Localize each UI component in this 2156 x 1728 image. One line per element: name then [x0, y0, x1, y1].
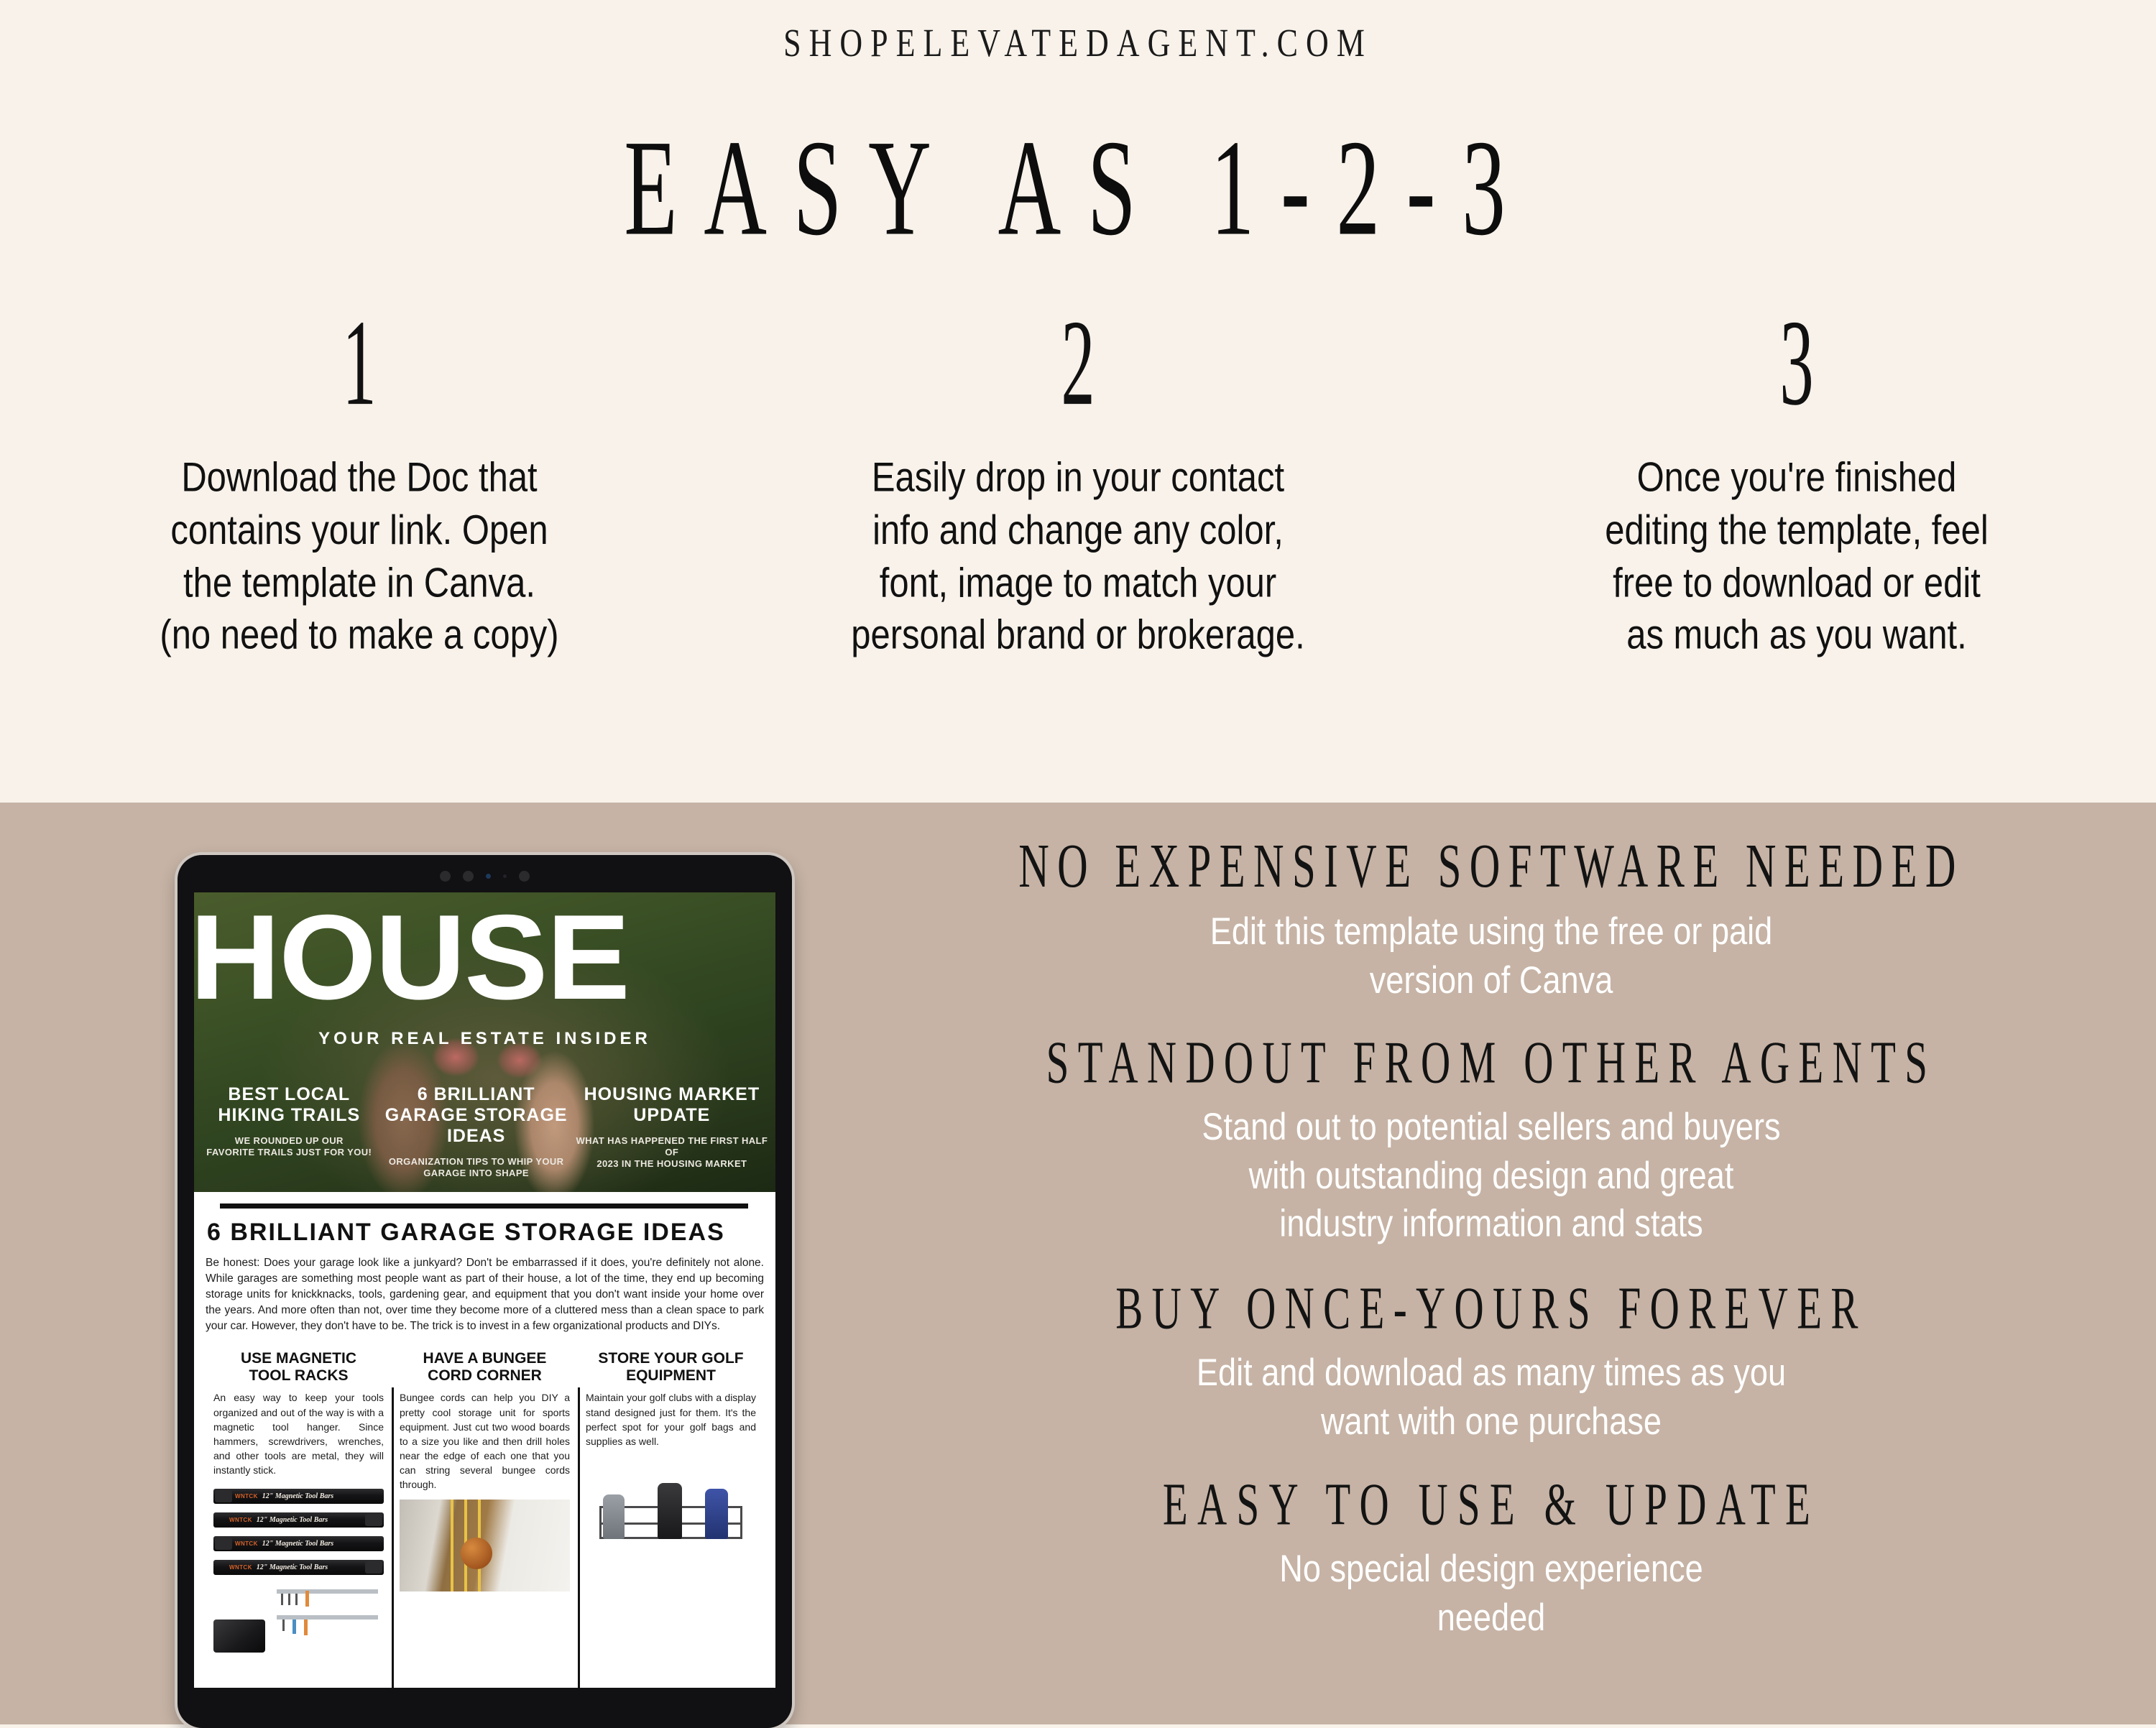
magazine-cover: HOUSE YOUR REAL ESTATE INSIDER BEST LOCA…: [194, 892, 775, 1192]
benefits-list: NO EXPENSIVE SOFTWARE NEEDED Edit this t…: [841, 831, 2156, 1634]
cover-blurb-2-title: 6 BRILLIANT GARAGE STORAGE IDEAS: [377, 1084, 576, 1147]
step-1: 1 Download the Doc that contains your li…: [0, 302, 719, 637]
product-list-magnetic-bars: WNTCK 12" Magnetic Tool Bars WNTCK 12" M…: [213, 1489, 384, 1653]
bottom-features-section: HOUSE YOUR REAL ESTATE INSIDER BEST LOCA…: [0, 803, 2156, 1724]
benefit-item-easy: EASY TO USE & UPDATE No special design e…: [841, 1470, 2142, 1630]
article-column-2: HAVE A BUNGEE CORD CORNER Bungee cords c…: [392, 1350, 578, 1653]
product-name-label: 12" Magnetic Tool Bars: [257, 1516, 328, 1524]
cover-blurb-3: HOUSING MARKET UPDATE WHAT HAS HAPPENED …: [576, 1084, 768, 1180]
tablet-mockup: HOUSE YOUR REAL ESTATE INSIDER BEST LOCA…: [178, 855, 792, 1728]
top-intro-section: SHOPELEVATEDAGENT.COM EASY AS 1-2-3 1 Do…: [0, 0, 2156, 803]
benefit-item-standout: STANDOUT FROM OTHER AGENTS Stand out to …: [841, 1028, 2142, 1231]
magazine-article: 6 BRILLIANT GARAGE STORAGE IDEAS Be hone…: [194, 1192, 775, 1653]
tool-hook-rail-photo: [271, 1586, 384, 1653]
article-columns: USE MAGNETIC TOOL RACKS An easy way to k…: [206, 1350, 764, 1653]
cover-blurb-1: BEST LOCAL HIKING TRAILS WE ROUNDED UP O…: [201, 1084, 377, 1180]
step-3-text: Once you're finished editing the templat…: [1452, 451, 2142, 662]
steps-row: 1 Download the Doc that contains your li…: [0, 302, 2156, 637]
hook-icon: [295, 1594, 298, 1605]
hook-icon: [281, 1594, 283, 1605]
magazine-subtitle: YOUR REAL ESTATE INSIDER: [194, 1029, 775, 1049]
benefit-3-heading: BUY ONCE-YOURS FOREVER: [873, 1274, 2109, 1344]
golf-clubs-icon: [603, 1494, 625, 1539]
article-column-2-heading: HAVE A BUNGEE CORD CORNER: [400, 1350, 570, 1384]
product-brand-label: WNTCK: [229, 1564, 252, 1571]
screwdriver-icon: [305, 1591, 309, 1607]
magazine-cover-blurbs: BEST LOCAL HIKING TRAILS WE ROUNDED UP O…: [194, 1084, 775, 1180]
benefit-3-body: Edit and download as many times as you w…: [867, 1348, 2116, 1445]
step-1-text: Download the Doc that contains your link…: [14, 451, 704, 662]
hook-icon: [282, 1620, 285, 1631]
golf-bag-blue-icon: [705, 1489, 728, 1539]
tablet-screen: HOUSE YOUR REAL ESTATE INSIDER BEST LOCA…: [194, 892, 775, 1688]
benefit-item-software: NO EXPENSIVE SOFTWARE NEEDED Edit this t…: [841, 831, 2142, 992]
product-name-label: 12" Magnetic Tool Bars: [262, 1492, 333, 1500]
step-3: 3 Once you're finished editing the templ…: [1437, 302, 2156, 637]
product-brand-label: WNTCK: [235, 1493, 258, 1500]
camera-indicator-icon: [486, 874, 491, 879]
benefit-item-forever: BUY ONCE-YOURS FOREVER Edit and download…: [841, 1274, 2142, 1433]
cover-blurb-2-sub: ORGANIZATION TIPS TO WHIP YOUR GARAGE IN…: [377, 1156, 576, 1180]
article-column-3: STORE YOUR GOLF EQUIPMENT Maintain your …: [578, 1350, 764, 1653]
product-mount-photo: [213, 1620, 265, 1653]
benefit-1-body: Edit this template using the free or pai…: [867, 907, 2116, 1004]
article-intro-paragraph: Be honest: Does your garage look like a …: [206, 1255, 764, 1334]
cover-blurb-2: 6 BRILLIANT GARAGE STORAGE IDEAS ORGANIZ…: [377, 1084, 576, 1180]
step-2-text: Easily drop in your contact info and cha…: [733, 451, 1423, 662]
tablet-camera-notch: [178, 867, 792, 885]
camera-mic-icon: [503, 874, 507, 878]
step-2: 2 Easily drop in your contact info and c…: [719, 302, 1437, 637]
benefit-2-heading: STANDOUT FROM OTHER AGENTS: [873, 1028, 2109, 1098]
cover-blurb-3-title: HOUSING MARKET UPDATE: [576, 1084, 768, 1126]
benefit-1-heading: NO EXPENSIVE SOFTWARE NEEDED: [873, 831, 2109, 902]
benefit-2-body: Stand out to potential sellers and buyer…: [867, 1102, 2116, 1247]
article-column-3-heading: STORE YOUR GOLF EQUIPMENT: [586, 1350, 756, 1384]
cover-blurb-3-sub: WHAT HAS HAPPENED THE FIRST HALF OF 2023…: [576, 1135, 768, 1170]
cover-blurb-1-sub: WE ROUNDED UP OUR FAVORITE TRAILS JUST F…: [201, 1135, 377, 1159]
article-column-1: USE MAGNETIC TOOL RACKS An easy way to k…: [206, 1350, 392, 1653]
step-2-number: 2: [791, 302, 1365, 458]
golf-equipment-photo: [586, 1461, 756, 1539]
product-name-label: 12" Magnetic Tool Bars: [257, 1563, 328, 1571]
golf-bag-black-icon: [658, 1483, 682, 1539]
product-brand-label: WNTCK: [229, 1517, 252, 1523]
site-url: SHOPELEVATEDAGENT.COM: [0, 20, 2156, 66]
article-rule-divider: [220, 1203, 748, 1209]
wrench-icon: [304, 1620, 308, 1635]
pliers-icon: [292, 1620, 296, 1634]
article-column-1-body: An easy way to keep your tools organized…: [213, 1390, 384, 1477]
step-1-number: 1: [72, 302, 647, 458]
product-brand-label: WNTCK: [235, 1540, 258, 1547]
product-magnetic-tool-bar: WNTCK 12" Magnetic Tool Bars: [213, 1512, 384, 1528]
magazine-masthead: HOUSE: [194, 897, 629, 1017]
product-magnetic-tool-bar: WNTCK 12" Magnetic Tool Bars: [213, 1560, 384, 1575]
article-column-3-body: Maintain your golf clubs with a display …: [586, 1390, 756, 1449]
benefit-4-heading: EASY TO USE & UPDATE: [873, 1470, 2109, 1540]
camera-sensor-icon: [463, 871, 474, 882]
article-column-2-body: Bungee cords can help you DIY a pretty c…: [400, 1390, 570, 1492]
camera-speaker-icon: [519, 871, 530, 882]
product-photo-row: [213, 1584, 384, 1653]
basketball-icon: [461, 1538, 492, 1569]
product-magnetic-tool-bar: WNTCK 12" Magnetic Tool Bars: [213, 1489, 384, 1504]
bungee-storage-photo: [400, 1500, 570, 1591]
product-name-label: 12" Magnetic Tool Bars: [262, 1540, 333, 1548]
camera-lens-icon: [440, 871, 451, 882]
step-3-number: 3: [1509, 302, 2084, 458]
page-title: EASY AS 1-2-3: [86, 108, 2070, 267]
article-column-1-heading: USE MAGNETIC TOOL RACKS: [213, 1350, 384, 1384]
hook-icon: [288, 1594, 290, 1605]
cover-blurb-1-title: BEST LOCAL HIKING TRAILS: [201, 1084, 377, 1126]
article-title: 6 BRILLIANT GARAGE STORAGE IDEAS: [207, 1219, 764, 1247]
bungee-cord: [451, 1500, 453, 1591]
hook-rail-upper: [277, 1589, 378, 1594]
product-magnetic-tool-bar: WNTCK 12" Magnetic Tool Bars: [213, 1536, 384, 1551]
benefit-4-body: No special design experience needed: [867, 1544, 2116, 1641]
